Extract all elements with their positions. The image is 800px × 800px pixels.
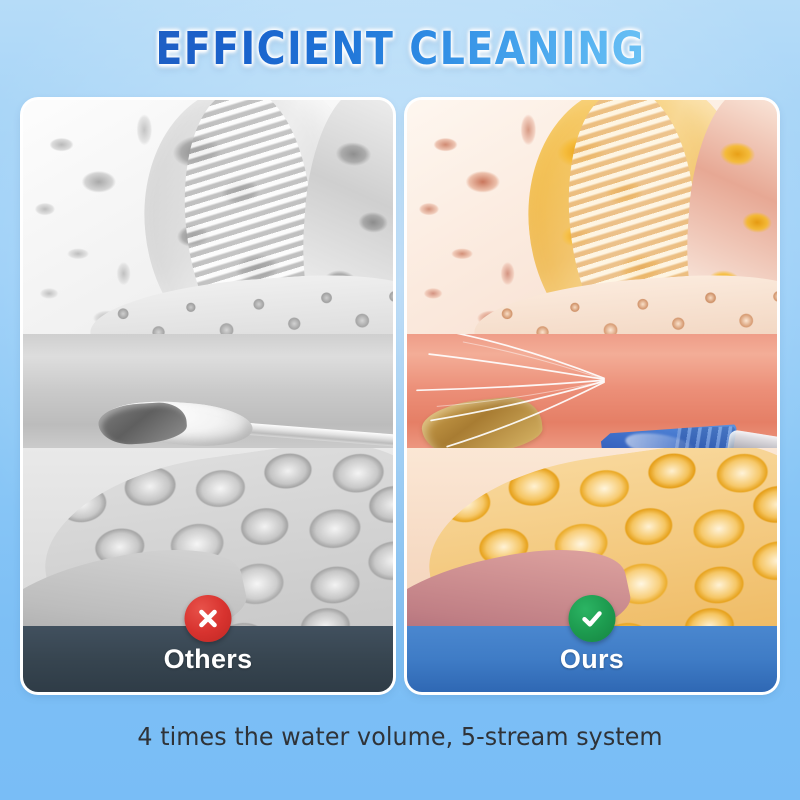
product-comparison-poster: EFFICIENT CLEANING (0, 0, 800, 800)
others-illustration (23, 100, 393, 626)
others-label: Others (164, 644, 253, 675)
ours-tissue-top (407, 100, 777, 348)
cross-icon (195, 605, 222, 632)
ours-label: Ours (560, 644, 624, 675)
others-tissue-top (23, 100, 393, 348)
check-badge (569, 595, 616, 642)
check-icon (578, 604, 607, 633)
title-container: EFFICIENT CLEANING (0, 22, 800, 82)
panel-ours[interactable]: Ours (407, 100, 777, 692)
comparison-panels: Others (23, 100, 777, 692)
cross-badge (185, 595, 232, 642)
page-title: EFFICIENT CLEANING (155, 22, 645, 76)
ours-illustration (407, 100, 777, 626)
footer-caption: 4 times the water volume, 5-stream syste… (20, 722, 780, 751)
others-canal-lumen (23, 334, 393, 460)
panel-others[interactable]: Others (23, 100, 393, 692)
ours-canal-lumen (407, 334, 777, 460)
